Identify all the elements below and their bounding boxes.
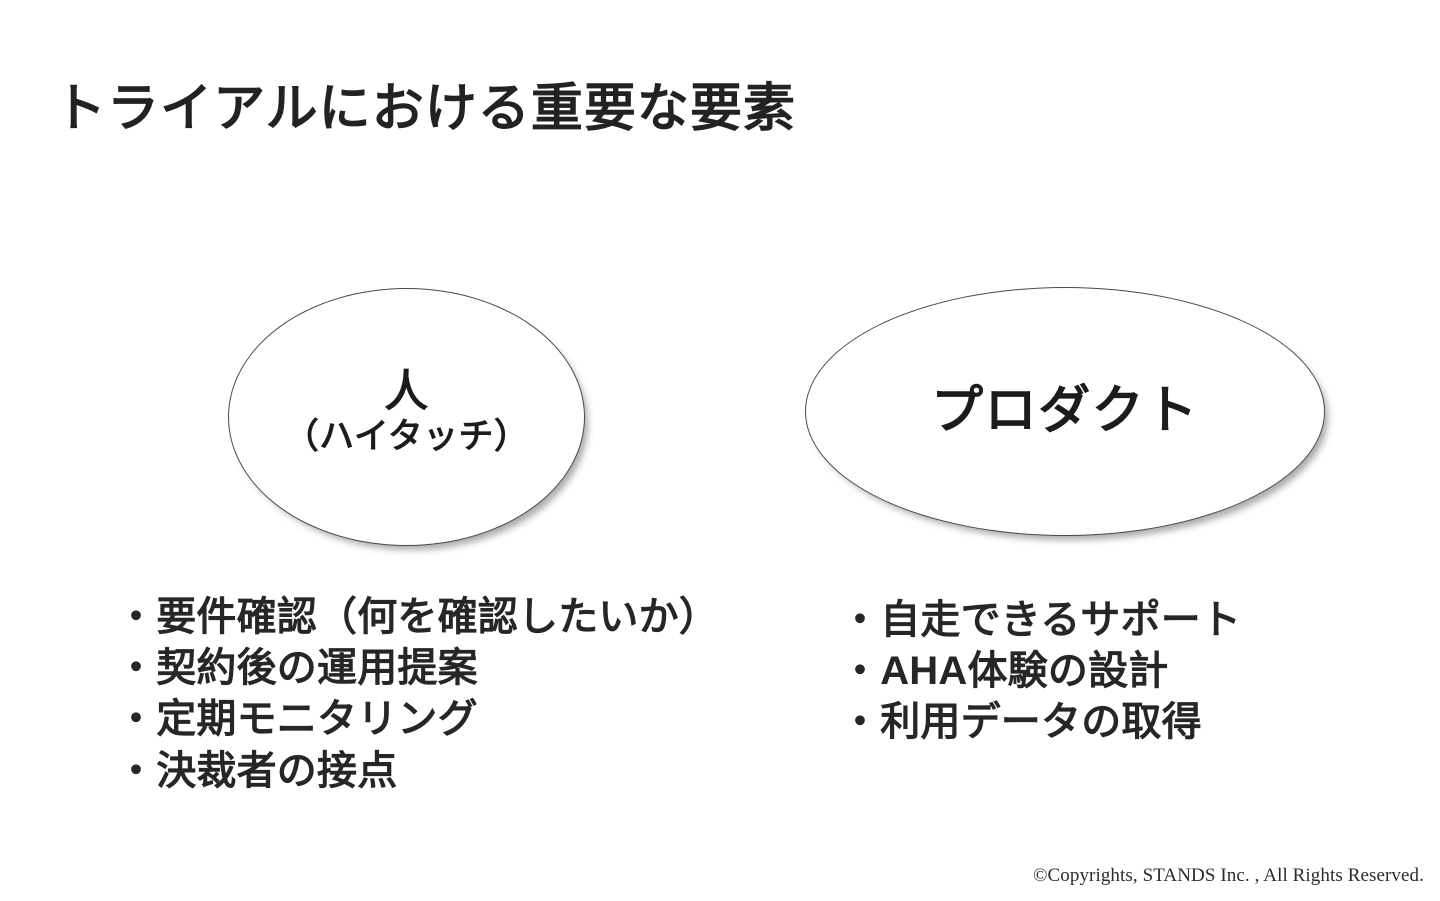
bullet-dot-icon: ・ (116, 643, 156, 694)
list-item-label: 定期モニタリング (156, 694, 478, 745)
list-item-label: 契約後の運用提案 (156, 643, 478, 694)
ellipse-human-text: 人 （ハイタッチ） (284, 369, 529, 457)
bullet-dot-icon: ・ (116, 746, 156, 797)
list-item-label: AHA体験の設計 (880, 646, 1168, 697)
bullet-dot-icon: ・ (840, 646, 880, 697)
list-item-label: 要件確認（何を確認したいか） (156, 592, 719, 643)
bullet-dot-icon: ・ (840, 595, 880, 646)
page-title: トライアルにおける重要な要素 (54, 78, 796, 140)
list-item: ・ 契約後の運用提案 (116, 643, 719, 694)
ellipse-product-text: プロダクト (931, 384, 1199, 439)
list-item: ・ 利用データの取得 (840, 697, 1241, 748)
ellipse-human-main-label: 人 (284, 369, 529, 415)
ellipse-human-sub-label: （ハイタッチ） (284, 417, 529, 457)
list-item: ・ AHA体験の設計 (840, 646, 1241, 697)
bullet-dot-icon: ・ (840, 697, 880, 748)
ellipse-product-main-label: プロダクト (931, 384, 1199, 439)
footer-copyright: ©Copyrights, STANDS Inc. , All Rights Re… (1033, 865, 1424, 887)
list-item-label: 自走できるサポート (880, 595, 1241, 646)
bullet-dot-icon: ・ (116, 592, 156, 643)
list-item-label: 決裁者の接点 (156, 746, 397, 797)
list-item-label: 利用データの取得 (880, 697, 1202, 748)
list-item: ・ 要件確認（何を確認したいか） (116, 592, 719, 643)
bullet-dot-icon: ・ (116, 694, 156, 745)
list-item: ・ 自走できるサポート (840, 595, 1241, 646)
list-item: ・ 定期モニタリング (116, 694, 719, 745)
ellipse-node-human: 人 （ハイタッチ） (228, 288, 585, 546)
ellipse-node-product: プロダクト (805, 287, 1325, 536)
bullet-list-product: ・ 自走できるサポート ・ AHA体験の設計 ・ 利用データの取得 (840, 595, 1241, 749)
list-item: ・ 決裁者の接点 (116, 746, 719, 797)
slide-canvas: トライアルにおける重要な要素 人 （ハイタッチ） プロダクト ・ 要件確認（何を… (0, 0, 1440, 901)
bullet-list-human: ・ 要件確認（何を確認したいか） ・ 契約後の運用提案 ・ 定期モニタリング ・… (116, 592, 719, 797)
